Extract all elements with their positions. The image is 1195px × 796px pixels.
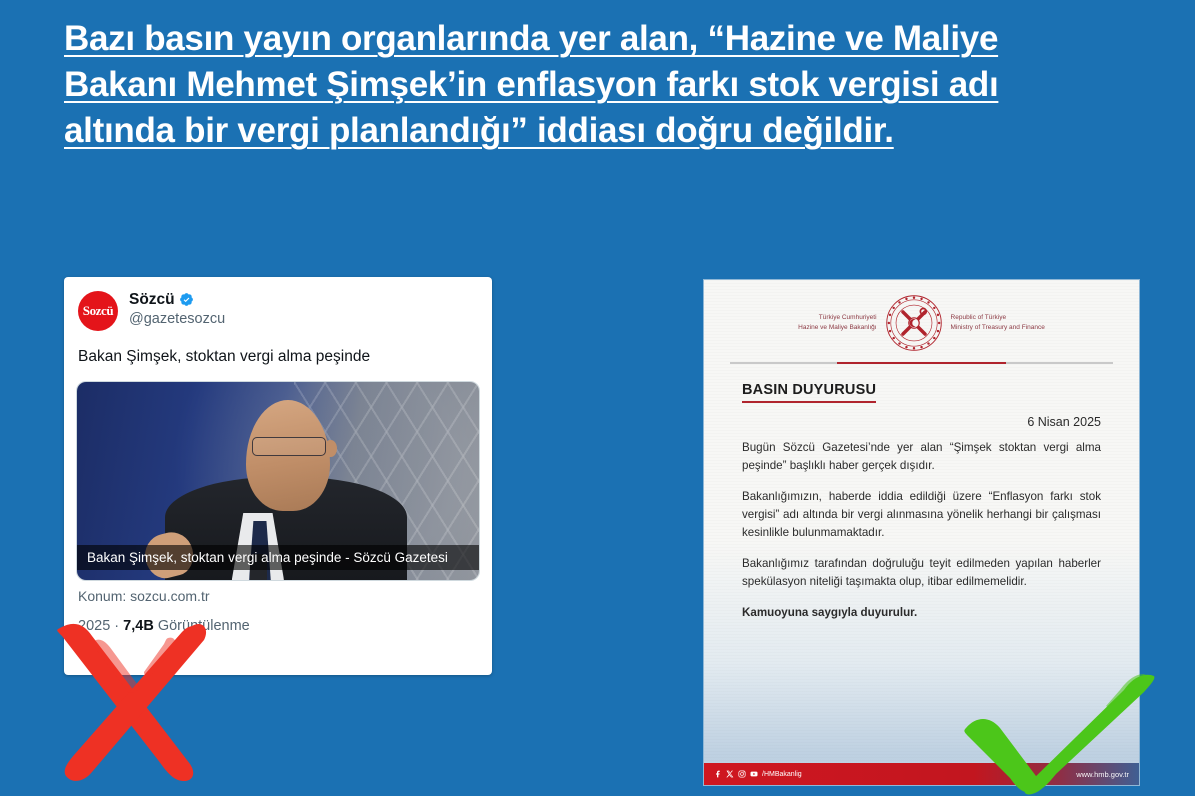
instagram-icon[interactable] [738, 770, 746, 778]
letterhead-turkish: Türkiye Cumhuriyeti Hazine ve Maliye Bak… [798, 313, 876, 333]
headline-line-3: altında bir vergi planlandığı” iddiası d… [64, 108, 1124, 154]
avatar-label: Sozcü [83, 303, 114, 319]
document-closing: Kamuoyuna saygıyla duyurulur. [742, 604, 1101, 622]
tweet-location: Konum: sozcu.com.tr [64, 581, 492, 604]
press-release-document: Türkiye Cumhuriyeti Hazine ve Maliye Bak… [703, 279, 1140, 786]
tweet-media-preview[interactable]: Bakan Şimşek, stoktan vergi alma peşinde… [76, 381, 480, 581]
tweet-card: Sozcü Sözcü @gazetesozcu Bakan Şimşek, s… [64, 277, 492, 675]
x-twitter-icon[interactable] [726, 770, 734, 778]
tweet-views-count: 7,4B [123, 618, 154, 634]
verified-badge-icon [179, 292, 194, 307]
tweet-views-label: Görüntülenme [158, 618, 250, 634]
document-letterhead: Türkiye Cumhuriyeti Hazine ve Maliye Bak… [704, 280, 1139, 356]
document-date: 6 Nisan 2025 [704, 415, 1101, 429]
document-body: Bugün Sözcü Gazetesi’nde yer alan “Şimşe… [742, 439, 1101, 622]
document-title-block: BASIN DUYURUSU [742, 382, 876, 403]
photo-subject-glasses [252, 437, 326, 457]
tweet-stats-separator: · [114, 618, 119, 634]
tweet-stats: 2025 · 7,4B Görüntülenme [64, 604, 492, 634]
document-paragraph-2: Bakanlığımızın, haberde iddia edildiği ü… [742, 488, 1101, 542]
footer-website-text: www.hmb.gov.tr [1076, 770, 1129, 779]
letterhead-turkish-line2: Hazine ve Maliye Bakanlığı [798, 323, 876, 333]
letterhead-divider [730, 362, 1113, 364]
tweet-text: Bakan Şimşek, stoktan vergi alma peşinde [64, 331, 492, 367]
document-footer: /HMBakanlig www.hmb.gov.tr [704, 763, 1139, 785]
tweet-handle[interactable]: @gazetesozcu [129, 311, 225, 328]
document-title-underline [742, 401, 876, 403]
footer-social-block: /HMBakanlig [714, 770, 802, 778]
facebook-icon[interactable] [714, 770, 722, 778]
headline-line-2: Bakanı Mehmet Şimşek’in enflasyon farkı … [64, 62, 1124, 108]
letterhead-turkish-line1: Türkiye Cumhuriyeti [798, 313, 876, 323]
document-paragraph-3: Bakanlığımız tarafından doğruluğu teyit … [742, 555, 1101, 591]
document-title: BASIN DUYURUSU [742, 382, 876, 398]
headline-line-1: Bazı basın yayın organlarında yer alan, … [64, 16, 1124, 62]
letterhead-english-line2: Ministry of Treasury and Finance [951, 323, 1045, 333]
footer-website[interactable]: www.hmb.gov.tr [1076, 770, 1129, 779]
letterhead-english-line1: Republic of Türkiye [951, 313, 1045, 323]
avatar[interactable]: Sozcü [78, 291, 118, 331]
tweet-header: Sozcü Sözcü @gazetesozcu [64, 277, 492, 331]
tweet-date: 2025 [78, 618, 110, 634]
document-paragraph-1: Bugün Sözcü Gazetesi’nde yer alan “Şimşe… [742, 439, 1101, 475]
tweet-author-block: Sözcü @gazetesozcu [129, 291, 225, 327]
media-caption: Bakan Şimşek, stoktan vergi alma peşinde… [77, 545, 479, 570]
youtube-icon[interactable] [750, 770, 758, 778]
letterhead-english: Republic of Türkiye Ministry of Treasury… [951, 313, 1045, 333]
tweet-display-name[interactable]: Sözcü [129, 291, 175, 309]
turkish-ministry-emblem-icon [885, 294, 943, 352]
page-title: Bazı basın yayın organlarında yer alan, … [64, 16, 1124, 155]
footer-social-handle: /HMBakanlig [762, 771, 802, 778]
